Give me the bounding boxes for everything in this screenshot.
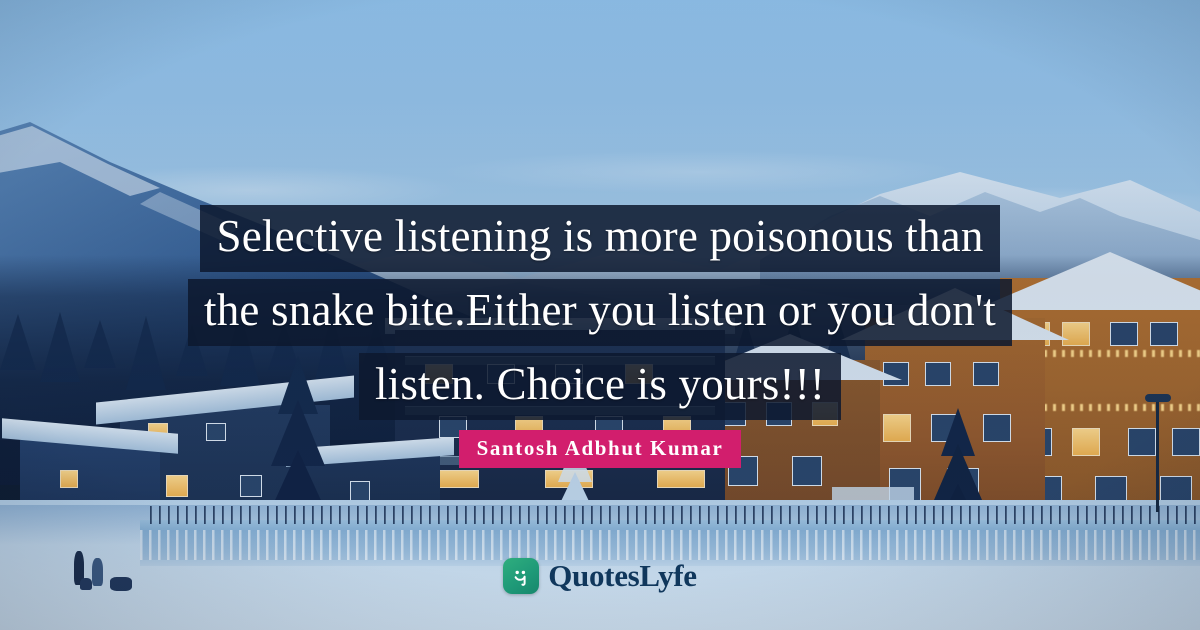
quote-text-block: Selective listening is more poisonous th… xyxy=(0,205,1200,420)
quote-smiley-icon xyxy=(503,558,539,594)
quote-line-1: Selective listening is more poisonous th… xyxy=(200,205,999,272)
author-badge-wrapper: Santosh Adbhut Kumar xyxy=(0,430,1200,468)
author-name-badge: Santosh Adbhut Kumar xyxy=(459,430,742,468)
quoteslyfe-logo[interactable]: QuotesLyfe xyxy=(0,558,1200,594)
quote-line-3: listen. Choice is yours!!! xyxy=(359,353,841,420)
quote-line-2: the snake bite.Either you listen or you … xyxy=(188,279,1012,346)
quoteslyfe-wordmark: QuotesLyfe xyxy=(548,558,697,594)
quote-card: Selective listening is more poisonous th… xyxy=(0,0,1200,630)
